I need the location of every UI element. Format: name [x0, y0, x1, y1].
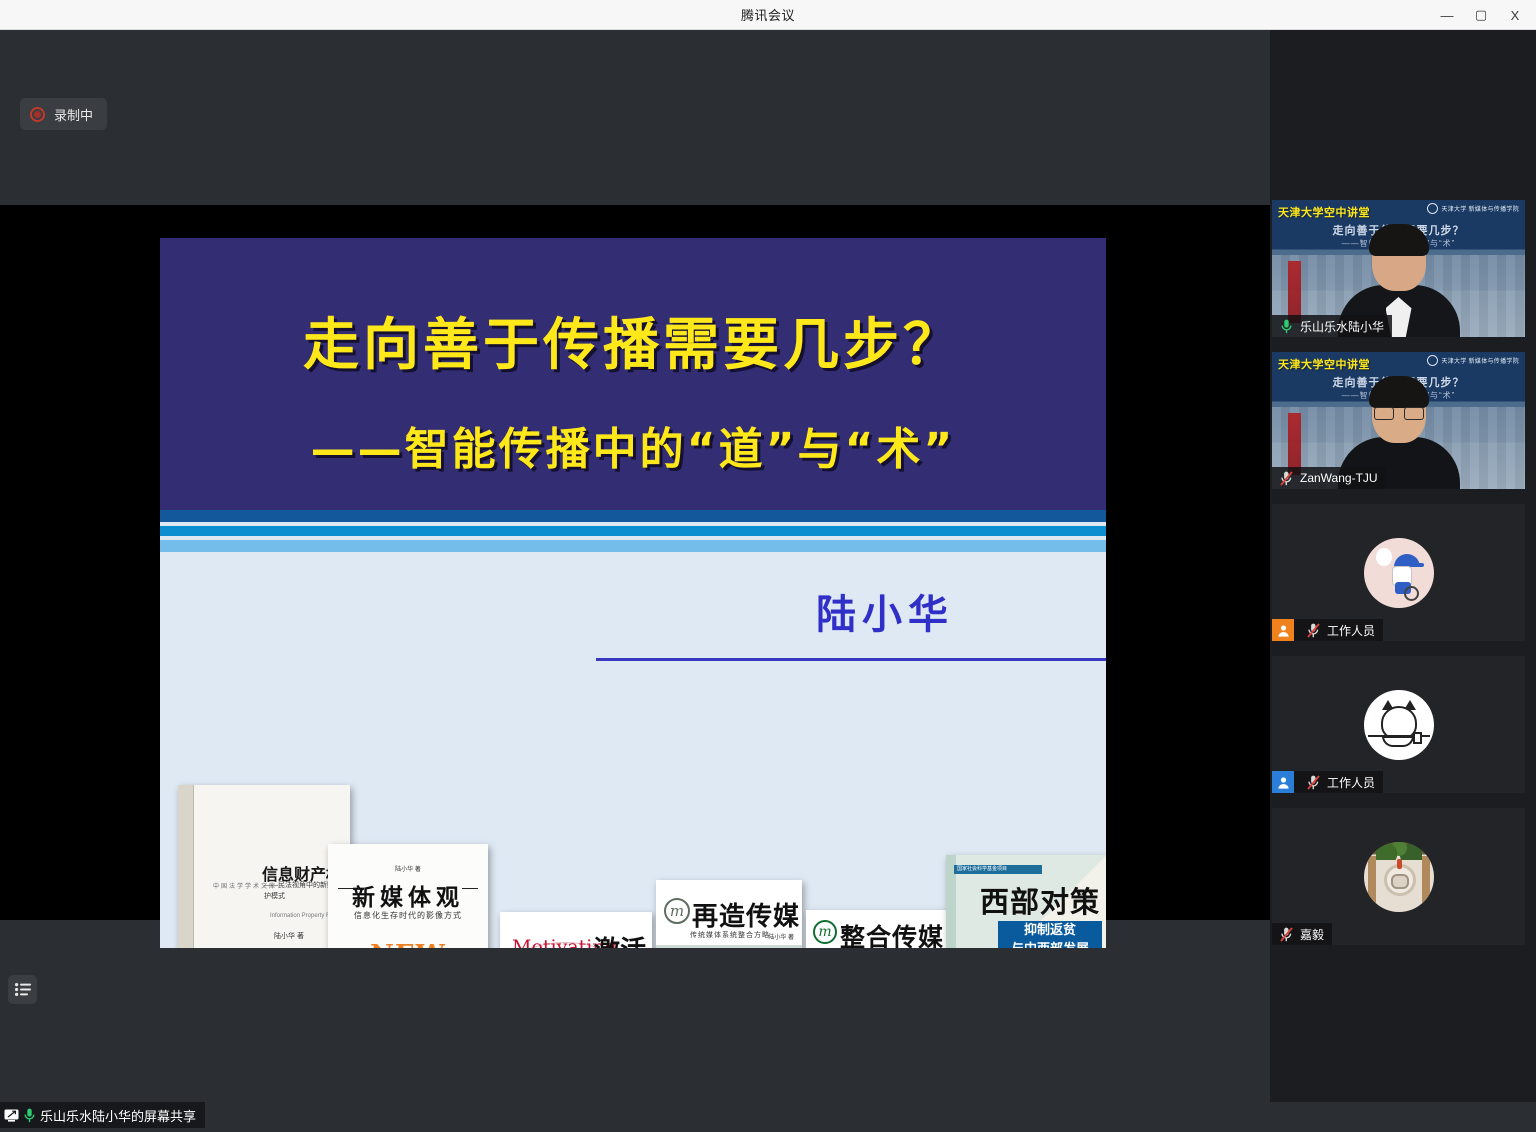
book-cover-2: 陆小华 著 新媒体观 信息化生存时代的影像方式 NEW MEDIA THEORY…	[328, 844, 488, 948]
book-6-subtitle-block: 抑制返贫 与中西部发展	[998, 921, 1102, 948]
participant-1-vb-logo: 天津大学 新媒体与传播学院	[1427, 203, 1519, 214]
book-cover-6: 国家社会科学基金项目 西部对策 抑制返贫 与中西部发展 ◎ 陆小华 ／ 著 新华…	[946, 855, 1106, 948]
microphone-muted-icon	[1278, 926, 1295, 943]
slide-speaker-rule	[596, 658, 1106, 661]
book-cover-3: Motivating The Media 激活传媒 传媒竞争力发掘与执行策略 中…	[500, 912, 652, 948]
book-2-subtitle: 信息化生存时代的影像方式	[328, 910, 488, 921]
microphone-muted-icon	[1305, 774, 1322, 791]
book-cover-5: m 整合传媒 TREND AND STRATEGIES IN MEDIA COM…	[806, 910, 948, 948]
book-2-title: 新媒体观	[328, 878, 488, 912]
participant-2-name: ZanWang-TJU	[1300, 471, 1378, 485]
participant-3-avatar	[1364, 538, 1434, 608]
book-4-author: 陆小华 著	[768, 932, 794, 941]
participant-1-nameplate: 乐山乐水陆小华	[1272, 315, 1392, 337]
slide-body: 陆小华 天大新媒体与传播学院空中课堂 中国法学学术文库 信息财产权 ——民法视角…	[160, 552, 1106, 948]
minimize-icon[interactable]: —	[1430, 0, 1464, 30]
bottom-strip: 乐山乐水陆小华的屏幕共享	[0, 1102, 1270, 1132]
book-cover-1: 中国法学学术文库 信息财产权 ——民法视角中的新财富保护模式 Informati…	[178, 785, 350, 948]
share-status-bar: 乐山乐水陆小华的屏幕共享	[0, 1102, 205, 1128]
record-dot-icon	[30, 107, 45, 122]
recording-label: 录制中	[54, 105, 93, 124]
book-4-m-mark-icon: m	[664, 898, 690, 924]
microphone-on-icon	[1278, 318, 1295, 335]
participant-tile-3[interactable]: 工作人员	[1272, 504, 1525, 641]
book-6-band: 国家社会科学基金项目	[954, 865, 1042, 874]
book-4-subtitle: 传统媒体系统整合方略	[690, 930, 770, 940]
share-status-text: 乐山乐水陆小华的屏幕共享	[40, 1106, 196, 1125]
meeting-stage: 录制中 走向善于传播需要几步？ ——智能传播中的“道”与“术” 陆小华 天大新媒…	[0, 30, 1270, 1072]
participant-3-nameplate: 工作人员	[1272, 619, 1383, 641]
participants-list-button[interactable]	[8, 975, 37, 1004]
participant-2-vb-caption: 天津大学空中讲堂	[1278, 356, 1370, 372]
participant-5-name: 嘉毅	[1300, 926, 1324, 943]
book-3-title-cn: 激活传媒	[594, 938, 646, 948]
book-cover-4: m 再造传媒 传统媒体系统整合方略 陆小华 著 信息出版社	[656, 880, 802, 948]
recording-indicator[interactable]: 录制中	[20, 98, 107, 130]
participant-5-nameplate: 嘉毅	[1272, 923, 1332, 945]
microphone-on-icon	[24, 1108, 35, 1123]
participant-tile-1[interactable]: 天津大学空中讲堂 天津大学 新媒体与传播学院 走向善于传播需要几步？ ——智能传…	[1272, 200, 1525, 337]
cohost-badge-icon	[1272, 771, 1294, 793]
participant-2-vb-logo: 天津大学 新媒体与传播学院	[1427, 355, 1519, 366]
participant-3-name: 工作人员	[1327, 622, 1375, 639]
book-4-title: 再造传媒	[692, 896, 800, 933]
participant-tile-5[interactable]: 嘉毅	[1272, 808, 1525, 945]
book-2-author: 陆小华 著	[328, 864, 488, 873]
book-5-title: 整合传媒	[840, 918, 944, 948]
participant-4-avatar	[1364, 690, 1434, 760]
microphone-muted-icon	[1305, 622, 1322, 639]
slide-stripe-mid-blue	[160, 526, 1106, 536]
maximize-icon[interactable]: ▢	[1464, 0, 1498, 30]
participant-2-background-banner	[1288, 413, 1301, 475]
screen-share-icon	[4, 1109, 19, 1122]
participant-4-name: 工作人员	[1327, 774, 1375, 791]
presentation-slide: 走向善于传播需要几步？ ——智能传播中的“道”与“术” 陆小华 天大新媒体与传播…	[160, 238, 1106, 948]
participant-tile-2[interactable]: 天津大学空中讲堂 天津大学 新媒体与传播学院 走向善于传播需要几步？ ——智能传…	[1272, 352, 1525, 489]
microphone-muted-icon	[1278, 470, 1295, 487]
participant-1-vb-caption: 天津大学空中讲堂	[1278, 204, 1370, 220]
list-icon	[15, 983, 31, 996]
window-title: 腾讯会议	[741, 5, 795, 24]
participant-2-nameplate: ZanWang-TJU	[1272, 467, 1386, 489]
slide-stripe-dark-blue	[160, 510, 1106, 522]
host-badge-icon	[1272, 619, 1294, 641]
participant-4-nameplate: 工作人员	[1272, 771, 1383, 793]
slide-stripe-light-blue	[160, 540, 1106, 552]
slide-subtitle: ——智能传播中的“道”与“术”	[160, 413, 1106, 477]
participant-1-background-banner	[1288, 261, 1301, 323]
book-5-m-mark-icon: m	[813, 920, 837, 944]
book-2-logo-line1: NEW	[328, 940, 488, 948]
slide-title: 走向善于传播需要几步？	[160, 300, 1106, 381]
book-1-author: 陆小华 著	[274, 931, 304, 941]
slide-header-band: 走向善于传播需要几步？ ——智能传播中的“道”与“术”	[160, 238, 1106, 510]
participant-rail-bottom	[1270, 1072, 1536, 1102]
participant-rail[interactable]: 天津大学空中讲堂 天津大学 新媒体与传播学院 走向善于传播需要几步？ ——智能传…	[1270, 30, 1536, 1102]
slide-speaker-name: 陆小华	[770, 582, 1000, 640]
participant-1-name: 乐山乐水陆小华	[1300, 318, 1384, 335]
close-icon[interactable]: X	[1498, 0, 1532, 30]
participant-tile-4[interactable]: 工作人员	[1272, 656, 1525, 793]
window-controls: — ▢ X	[1430, 0, 1532, 30]
participant-5-avatar	[1364, 842, 1434, 912]
window-title-bar: 腾讯会议 — ▢ X	[0, 0, 1536, 30]
book-1-spine	[178, 785, 194, 948]
book-6-title: 西部对策	[980, 879, 1100, 921]
